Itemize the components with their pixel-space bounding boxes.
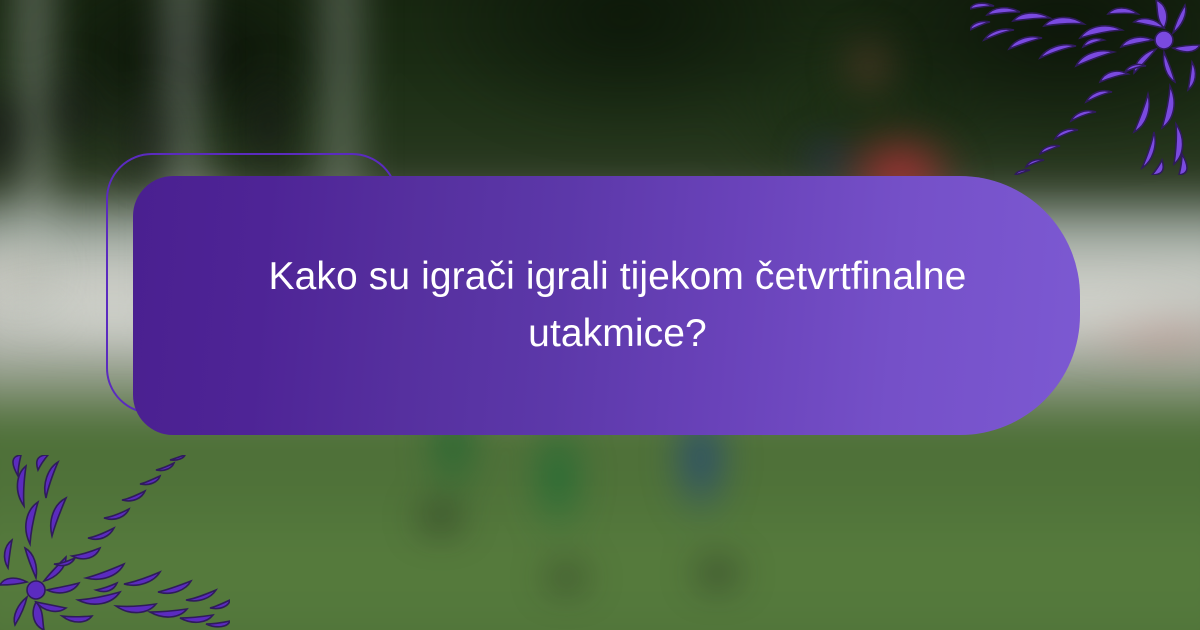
share-card-canvas: Kako su igrači igrali tijekom četvrtfina…: [0, 0, 1200, 630]
hero-card: Kako su igrači igrali tijekom četvrtfina…: [133, 176, 1080, 435]
page-title: Kako su igrači igrali tijekom četvrtfina…: [268, 249, 968, 361]
